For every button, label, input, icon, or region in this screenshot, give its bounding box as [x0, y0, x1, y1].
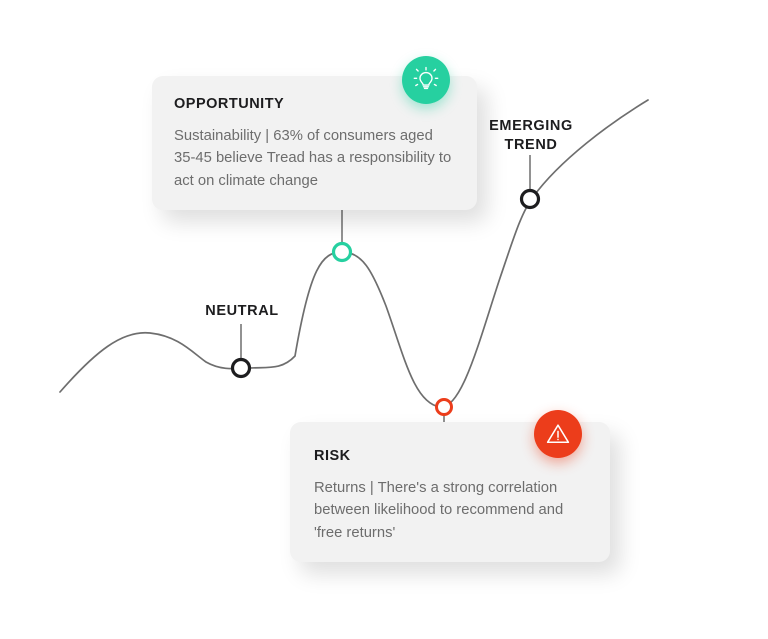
card-opportunity-body: Sustainability | 63% of consumers aged 3… [174, 125, 453, 192]
node-marker-opportunity[interactable] [334, 244, 351, 261]
card-risk-body: Returns | There's a strong correlation b… [314, 477, 584, 544]
label-emerging-trend: EMERGING TREND [478, 117, 584, 154]
node-marker-emerging-trend[interactable] [522, 191, 539, 208]
insight-curve-diagram: NEUTRAL EMERGING TREND OPPORTUNITY Susta… [0, 0, 768, 639]
label-neutral: NEUTRAL [196, 302, 288, 321]
warning-triangle-icon[interactable] [534, 410, 582, 458]
node-marker-neutral[interactable] [233, 360, 250, 377]
lightbulb-icon[interactable] [402, 56, 450, 104]
node-marker-risk[interactable] [437, 400, 452, 415]
